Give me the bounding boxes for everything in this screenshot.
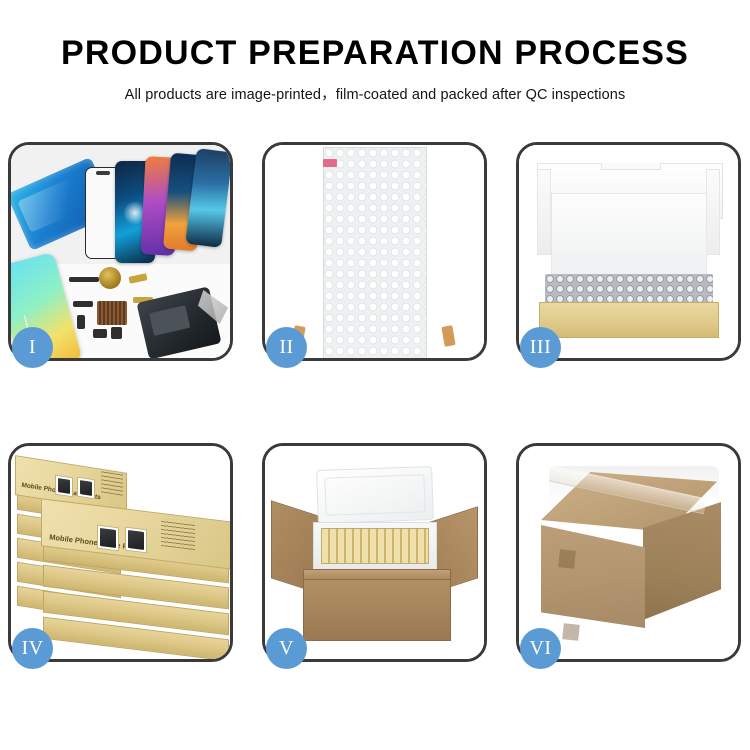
process-step-grid: I II bbox=[8, 142, 742, 674]
process-step-card-5: V bbox=[262, 443, 487, 662]
process-step-card-6: VI bbox=[516, 443, 741, 662]
carton-body bbox=[303, 579, 451, 641]
speaker-coil-part bbox=[99, 267, 121, 289]
scene-stacked-retail-boxes: Mobile Phone Spare Parts Mobile Phone Sp… bbox=[11, 446, 230, 659]
scene-carton-with-foam-box bbox=[265, 446, 484, 659]
kraft-tray-front bbox=[539, 302, 719, 338]
box-side-left bbox=[537, 169, 551, 255]
step-5-image bbox=[265, 446, 484, 659]
step-1-image bbox=[11, 145, 230, 358]
step-6-image bbox=[519, 446, 738, 659]
box-checklist-back bbox=[101, 468, 123, 495]
kapton-tape-right bbox=[441, 325, 455, 347]
step-badge-2: II bbox=[266, 327, 307, 368]
carton-front-face bbox=[541, 516, 645, 628]
retail-boxes-inside bbox=[321, 528, 429, 564]
step-badge-3: III bbox=[520, 327, 561, 368]
step-2-image bbox=[265, 145, 484, 358]
scene-bubble-wrapped-screen bbox=[265, 145, 484, 358]
box-side-right bbox=[706, 169, 720, 255]
step-4-image: Mobile Phone Spare Parts Mobile Phone Sp… bbox=[11, 446, 230, 659]
step-badge-5: V bbox=[266, 628, 307, 669]
box-checklist-front bbox=[161, 518, 195, 550]
pink-label-sticker bbox=[323, 159, 337, 167]
carton-tab-lower bbox=[562, 623, 580, 641]
ic-chip-part bbox=[97, 301, 127, 325]
page-subtitle: All products are image-printed，film-coat… bbox=[0, 83, 750, 104]
step-badge-6: VI bbox=[520, 628, 561, 669]
scene-open-kraft-tray-box bbox=[519, 145, 738, 358]
box-window-back-2 bbox=[77, 477, 95, 500]
process-step-card-3: III bbox=[516, 142, 741, 361]
box-window-back-1 bbox=[55, 475, 73, 498]
box-window-front-2 bbox=[125, 527, 147, 554]
connector-part-2 bbox=[77, 315, 85, 329]
white-foam-sheet bbox=[551, 193, 707, 281]
vibrator-part bbox=[111, 327, 122, 339]
foam-box-lid bbox=[316, 466, 434, 524]
process-step-card-4: Mobile Phone Spare Parts Mobile Phone Sp… bbox=[8, 443, 233, 662]
carton-tab-upper bbox=[558, 549, 576, 569]
product-preparation-infographic: PRODUCT PREPARATION PROCESS All products… bbox=[0, 0, 750, 750]
step-badge-1: I bbox=[12, 327, 53, 368]
box-window-front-1 bbox=[97, 525, 119, 552]
header: PRODUCT PREPARATION PROCESS All products… bbox=[0, 0, 750, 104]
process-step-card-2: II bbox=[262, 142, 487, 361]
connector-part-1 bbox=[73, 301, 93, 307]
earpiece-mesh-part bbox=[69, 277, 99, 282]
step-badge-4: IV bbox=[12, 628, 53, 669]
process-step-card-1: I bbox=[8, 142, 233, 361]
bubble-wrap-bag bbox=[323, 147, 427, 358]
camera-module-part bbox=[93, 329, 107, 338]
scene-spare-parts-flatlay bbox=[11, 145, 230, 358]
scene-sealed-shipping-carton bbox=[519, 446, 738, 659]
page-title: PRODUCT PREPARATION PROCESS bbox=[0, 34, 750, 73]
step-3-image bbox=[519, 145, 738, 358]
